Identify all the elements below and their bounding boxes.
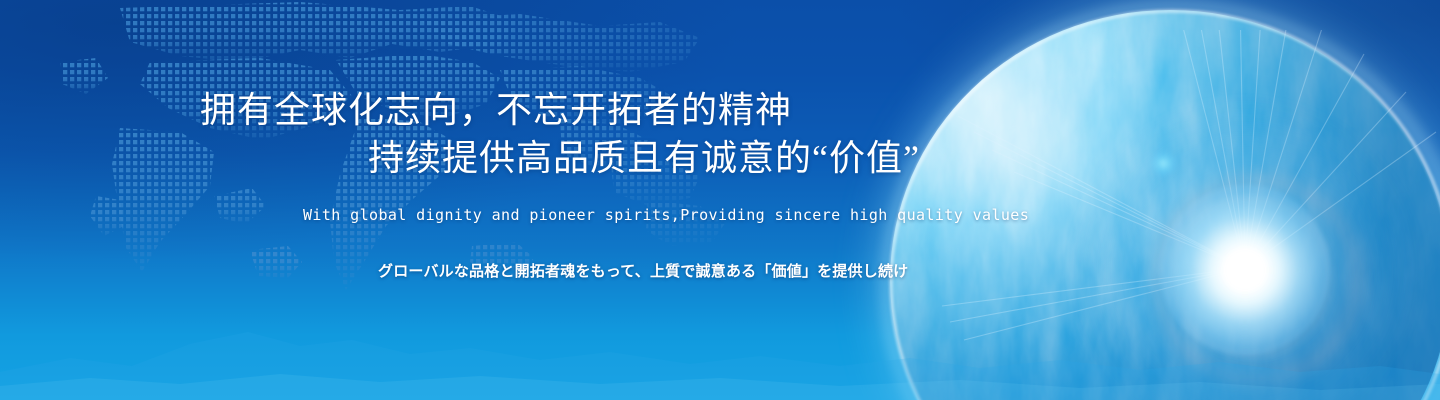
headline-block: 拥有全球化志向，不忘开拓者的精神 持续提供高品质且有诚意的“价值” [200, 86, 920, 182]
subtitle-japanese: グローバルな品格と開拓者魂をもって、上質で誠意ある「価値」を提供し続け [378, 260, 908, 281]
hero-banner: 拥有全球化志向，不忘开拓者的精神 持续提供高品质且有诚意的“价值” With g… [0, 0, 1440, 400]
banner-text-content: 拥有全球化志向，不忘开拓者的精神 持续提供高品质且有诚意的“价值” With g… [0, 0, 1440, 400]
headline-line-1: 拥有全球化志向，不忘开拓者的精神 [200, 86, 920, 134]
headline-line-2: 持续提供高品质且有诚意的“价值” [200, 134, 920, 182]
subtitle-english: With global dignity and pioneer spirits,… [303, 206, 1029, 224]
